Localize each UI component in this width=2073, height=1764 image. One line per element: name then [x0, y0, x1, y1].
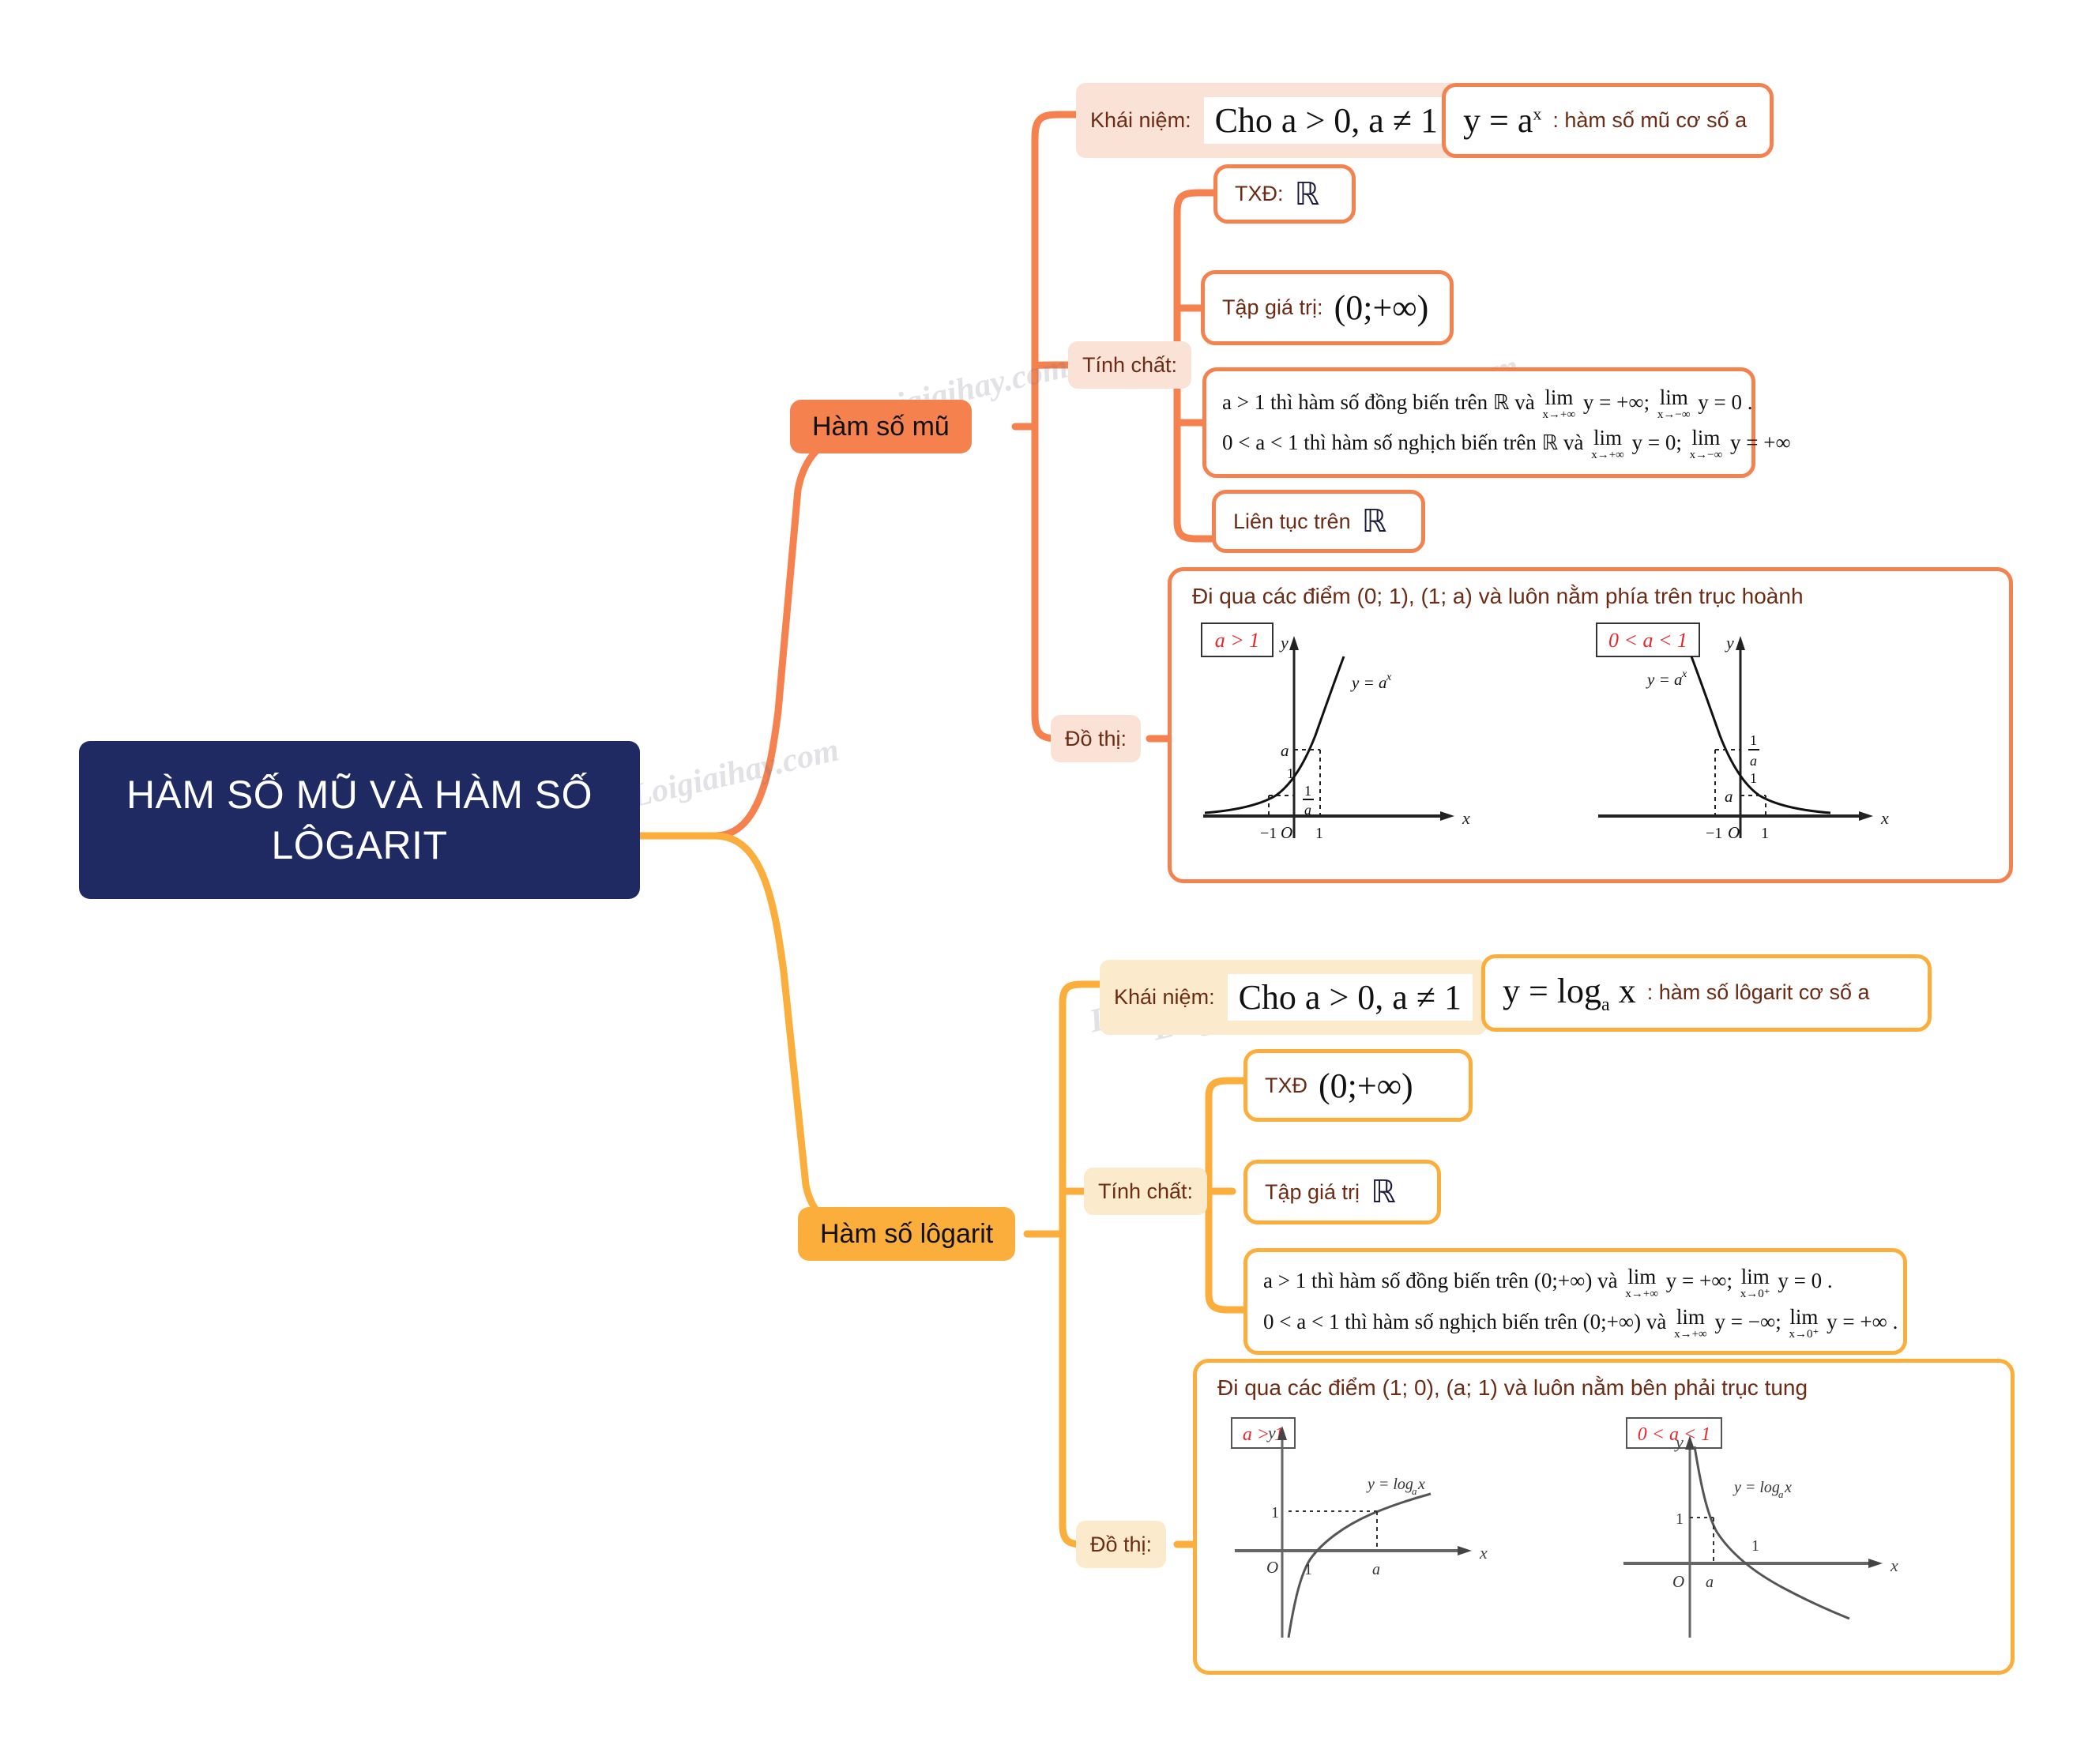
svg-text:0 < a < 1: 0 < a < 1 [1638, 1424, 1710, 1445]
branch-label-logarithm: Hàm số lôgarit [820, 1219, 993, 1250]
exp-properties-label[interactable]: Tính chất: [1068, 341, 1191, 389]
svg-text:a: a [1778, 1488, 1784, 1500]
svg-text:1: 1 [1750, 770, 1757, 786]
exp-domain-box[interactable]: TXĐ: ℝ [1213, 164, 1356, 224]
exp-graph-caption: Đi qua các điểm (0; 1), (1; a) và luôn n… [1172, 571, 2009, 609]
log-properties-label[interactable]: Tính chất: [1084, 1168, 1207, 1215]
log-concept-condition: Cho a > 0, a ≠ 1 [1228, 974, 1473, 1021]
page-title: HÀM SỐ MŨ VÀ HÀM SỐ LÔGARIT [100, 769, 619, 871]
svg-text:a: a [1412, 1485, 1417, 1497]
svg-text:a: a [1304, 802, 1311, 818]
branch-node-logarithm[interactable]: Hàm số lôgarit [798, 1207, 1015, 1261]
svg-text:1: 1 [1750, 732, 1757, 748]
log-chart-a-between-0-1: 0 < a < 1 y x y = log a x 1 O a 1 [1608, 1401, 2003, 1661]
exp-range-box[interactable]: Tập giá trị: (0;+∞) [1201, 270, 1454, 345]
exp-formula-box[interactable]: y = ax : hàm số mũ cơ số a [1442, 83, 1774, 158]
svg-text:1: 1 [1751, 1537, 1759, 1555]
svg-text:1: 1 [1287, 765, 1294, 781]
svg-text:y = log: y = log [1366, 1476, 1413, 1493]
root-node[interactable]: HÀM SỐ MŨ VÀ HÀM SỐ LÔGARIT [79, 741, 640, 899]
branch-label-exponential: Hàm số mũ [812, 412, 950, 442]
svg-text:1: 1 [1271, 1504, 1279, 1521]
svg-text:y: y [1279, 633, 1289, 653]
svg-text:a: a [1750, 753, 1757, 769]
exp-continuity-value: ℝ [1362, 503, 1387, 540]
svg-text:x: x [1784, 1479, 1792, 1496]
exp-continuity-box[interactable]: Liên tục trên ℝ [1212, 490, 1425, 553]
exp-graph-panel[interactable]: Đi qua các điểm (0; 1), (1; a) và luôn n… [1168, 567, 2013, 883]
log-graph-caption: Đi qua các điểm (1; 0), (a; 1) và luôn n… [1197, 1363, 2011, 1401]
exp-monotonic-box[interactable]: a > 1 thì hàm số đồng biến trên ℝ và lim… [1202, 367, 1755, 478]
svg-text:a: a [1706, 1574, 1714, 1591]
exp-domain-label: TXĐ: [1235, 182, 1284, 206]
svg-text:1: 1 [1315, 825, 1323, 842]
svg-text:O: O [1728, 823, 1740, 842]
svg-text:x: x [1880, 808, 1889, 828]
svg-text:1: 1 [1304, 783, 1311, 799]
log-monotonic-box[interactable]: a > 1 thì hàm số đồng biến trên (0;+∞) v… [1243, 1248, 1907, 1355]
log-monotonic-line-2: 0 < a < 1 thì hàm số nghịch biến trên (0… [1263, 1302, 1898, 1342]
exp-range-label: Tập giá trị: [1222, 295, 1323, 320]
exp-concept-condition: Cho a > 0, a ≠ 1 [1204, 97, 1449, 144]
log-range-box[interactable]: Tập giá trị ℝ [1243, 1160, 1441, 1224]
log-monotonic-line-1: a > 1 thì hàm số đồng biến trên (0;+∞) v… [1263, 1261, 1833, 1301]
exp-domain-value: ℝ [1295, 176, 1320, 213]
log-graph-panel[interactable]: Đi qua các điểm (1; 0), (a; 1) và luôn n… [1193, 1359, 2015, 1675]
svg-text:x: x [1890, 1555, 1898, 1575]
svg-text:a: a [1281, 741, 1289, 760]
svg-text:O: O [1266, 1558, 1278, 1577]
svg-text:−1: −1 [1706, 825, 1722, 842]
exp-formula: y = ax [1463, 100, 1541, 141]
log-domain-box[interactable]: TXĐ (0;+∞) [1243, 1049, 1473, 1122]
svg-text:a > 1: a > 1 [1243, 1424, 1284, 1445]
exp-formula-note: : hàm số mũ cơ số a [1552, 108, 1747, 133]
watermark: Loigiaihay.com [628, 731, 843, 815]
svg-text:x: x [1417, 1476, 1425, 1493]
exp-concept-label: Khái niệm: [1090, 108, 1191, 133]
log-formula: y = loga x [1503, 971, 1636, 1016]
svg-text:O: O [1281, 823, 1292, 842]
log-domain-value: (0;+∞) [1319, 1066, 1413, 1106]
log-concept-label: Khái niệm: [1114, 985, 1215, 1010]
svg-text:1: 1 [1676, 1510, 1684, 1528]
svg-text:x: x [1681, 668, 1687, 680]
mindmap-canvas: Loigiaihay.com Loigiaihay.com Loigiaihay… [0, 0, 2073, 1764]
log-concept-group[interactable]: Khái niệm: Cho a > 0, a ≠ 1 [1100, 960, 1487, 1035]
exp-range-value: (0;+∞) [1334, 288, 1429, 328]
exp-chart-a-between-0-1: 0 < a < 1 y x y = a x 1 a 1 a [1582, 609, 1993, 862]
log-graph-label[interactable]: Đồ thị: [1076, 1521, 1166, 1568]
svg-text:0 < a < 1: 0 < a < 1 [1608, 629, 1687, 652]
exp-chart-a-greater-1: a > 1 y x y = a x a 1 1 [1187, 609, 1582, 862]
svg-text:y = a: y = a [1350, 673, 1387, 692]
svg-text:y: y [1725, 633, 1734, 653]
svg-text:a > 1: a > 1 [1215, 629, 1260, 652]
svg-text:y: y [1674, 1432, 1684, 1452]
svg-text:x: x [1462, 808, 1470, 828]
svg-text:x: x [1479, 1543, 1488, 1563]
svg-text:1: 1 [1761, 825, 1769, 842]
log-range-label: Tập giá trị [1265, 1180, 1360, 1205]
exp-graph-label[interactable]: Đồ thị: [1051, 715, 1141, 762]
exp-continuity-label: Liên tục trên [1233, 510, 1351, 534]
log-formula-note: : hàm số lôgarit cơ số a [1647, 980, 1870, 1005]
svg-text:y = log: y = log [1733, 1479, 1780, 1496]
log-domain-label: TXĐ [1265, 1074, 1307, 1098]
svg-text:−1: −1 [1260, 825, 1277, 842]
svg-text:a: a [1725, 787, 1733, 806]
svg-text:y = a: y = a [1646, 670, 1683, 689]
svg-text:y: y [1266, 1423, 1276, 1442]
log-chart-a-greater-1: a > 1 y x y = log a x 1 O 1 a [1213, 1401, 1608, 1661]
svg-text:O: O [1672, 1572, 1684, 1591]
exp-monotonic-line-1: a > 1 thì hàm số đồng biến trên ℝ và lim… [1222, 382, 1753, 423]
branch-node-exponential[interactable]: Hàm số mũ [790, 400, 972, 453]
exp-concept-group[interactable]: Khái niệm: Cho a > 0, a ≠ 1 [1076, 83, 1463, 158]
svg-text:1: 1 [1304, 1561, 1312, 1578]
log-formula-box[interactable]: y = loga x : hàm số lôgarit cơ số a [1481, 954, 1932, 1032]
exp-monotonic-line-2: 0 < a < 1 thì hàm số nghịch biến trên ℝ … [1222, 423, 1791, 463]
svg-text:x: x [1386, 671, 1392, 683]
svg-text:a: a [1372, 1561, 1380, 1578]
log-range-value: ℝ [1371, 1174, 1396, 1210]
